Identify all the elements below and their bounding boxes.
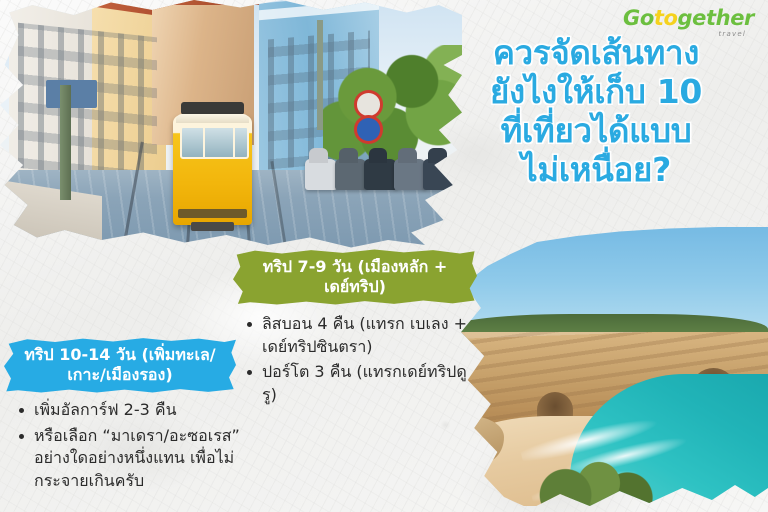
badge-trip-10-14-days: ทริป 10-14 วัน (เพิ่มทะเล/ เกาะ/เมืองรอง… [4,337,236,393]
list-item: ลิสบอน 4 คืน (แทรก เบเลง + เดย์ทริปซินตร… [242,313,474,358]
badge-text: ทริป 7-9 วัน (เมืองหลัก + เดย์ทริป) [263,257,448,296]
tram-scene [0,0,462,250]
logo-text-to: to [654,6,678,30]
brand-logo[interactable]: Gotogether travel [623,8,754,38]
logo-tagline: travel [623,31,746,38]
photo-lisbon-tram [0,0,462,250]
badge-line-1: ทริป 10-14 วัน (เพิ่มทะเล/ [24,345,215,364]
no-parking-sign-icon [354,115,383,144]
bullet-list-trip-10-14-days: เพิ่มอัลการ์ฟ 2-3 คืน หรือเลือก “มาเดรา/… [14,399,242,496]
bullet-list-trip-7-9-days: ลิสบอน 4 คืน (แทรก เบเลง + เดย์ทริปซินตร… [242,313,474,410]
badge-line-2: เกาะ/เมืองรอง) [67,365,172,384]
yellow-tram [173,115,252,225]
car [305,159,338,190]
headline-line-4: ไม่เหนื่อย? [440,151,752,190]
logo-text-gether: gether [678,6,754,30]
street-lamp [317,20,323,130]
tram-skirt [178,209,247,219]
badge-trip-7-9-days: ทริป 7-9 วัน (เมืองหลัก + เดย์ทริป) [233,249,477,305]
car [335,159,368,190]
sign-post [60,85,71,200]
parked-cars [305,150,453,190]
tram-bogie [191,222,235,231]
badge-text: ทริป 10-14 วัน (เพิ่มทะเล/ เกาะ/เมืองรอง… [24,345,215,384]
logo-wordmark: Gotogether [623,8,754,29]
tram-roof [176,114,248,123]
list-item: เพิ่มอัลการ์ฟ 2-3 คืน [14,399,242,422]
headline-block: ควรจัดเส้นทาง ยังไงให้เก็บ 10 ที่เที่ยวไ… [440,34,752,190]
poster-canvas: Gotogether travel ควรจัดเส้นทาง ยังไงให้… [0,0,768,512]
badge-line-1: ทริป 7-9 วัน (เมืองหลัก + [263,257,448,276]
logo-text-go: Go [623,6,654,30]
badge-line-2: เดย์ทริป) [324,277,386,296]
list-item: หรือเลือก “มาเดรา/อะซอเรส” อย่างใดอย่างห… [14,425,242,493]
car [394,159,427,190]
list-item: ปอร์โต 3 คืน (แทรกเดย์ทริปดูรู) [242,361,474,406]
tram-windshield [180,126,250,159]
headline-line-2: ยังไงให้เก็บ 10 [440,73,752,112]
car [364,159,397,190]
street-sign [46,80,97,108]
headline-line-1: ควรจัดเส้นทาง [440,34,752,73]
headline-line-3: ที่เที่ยวได้แบบ [440,112,752,151]
